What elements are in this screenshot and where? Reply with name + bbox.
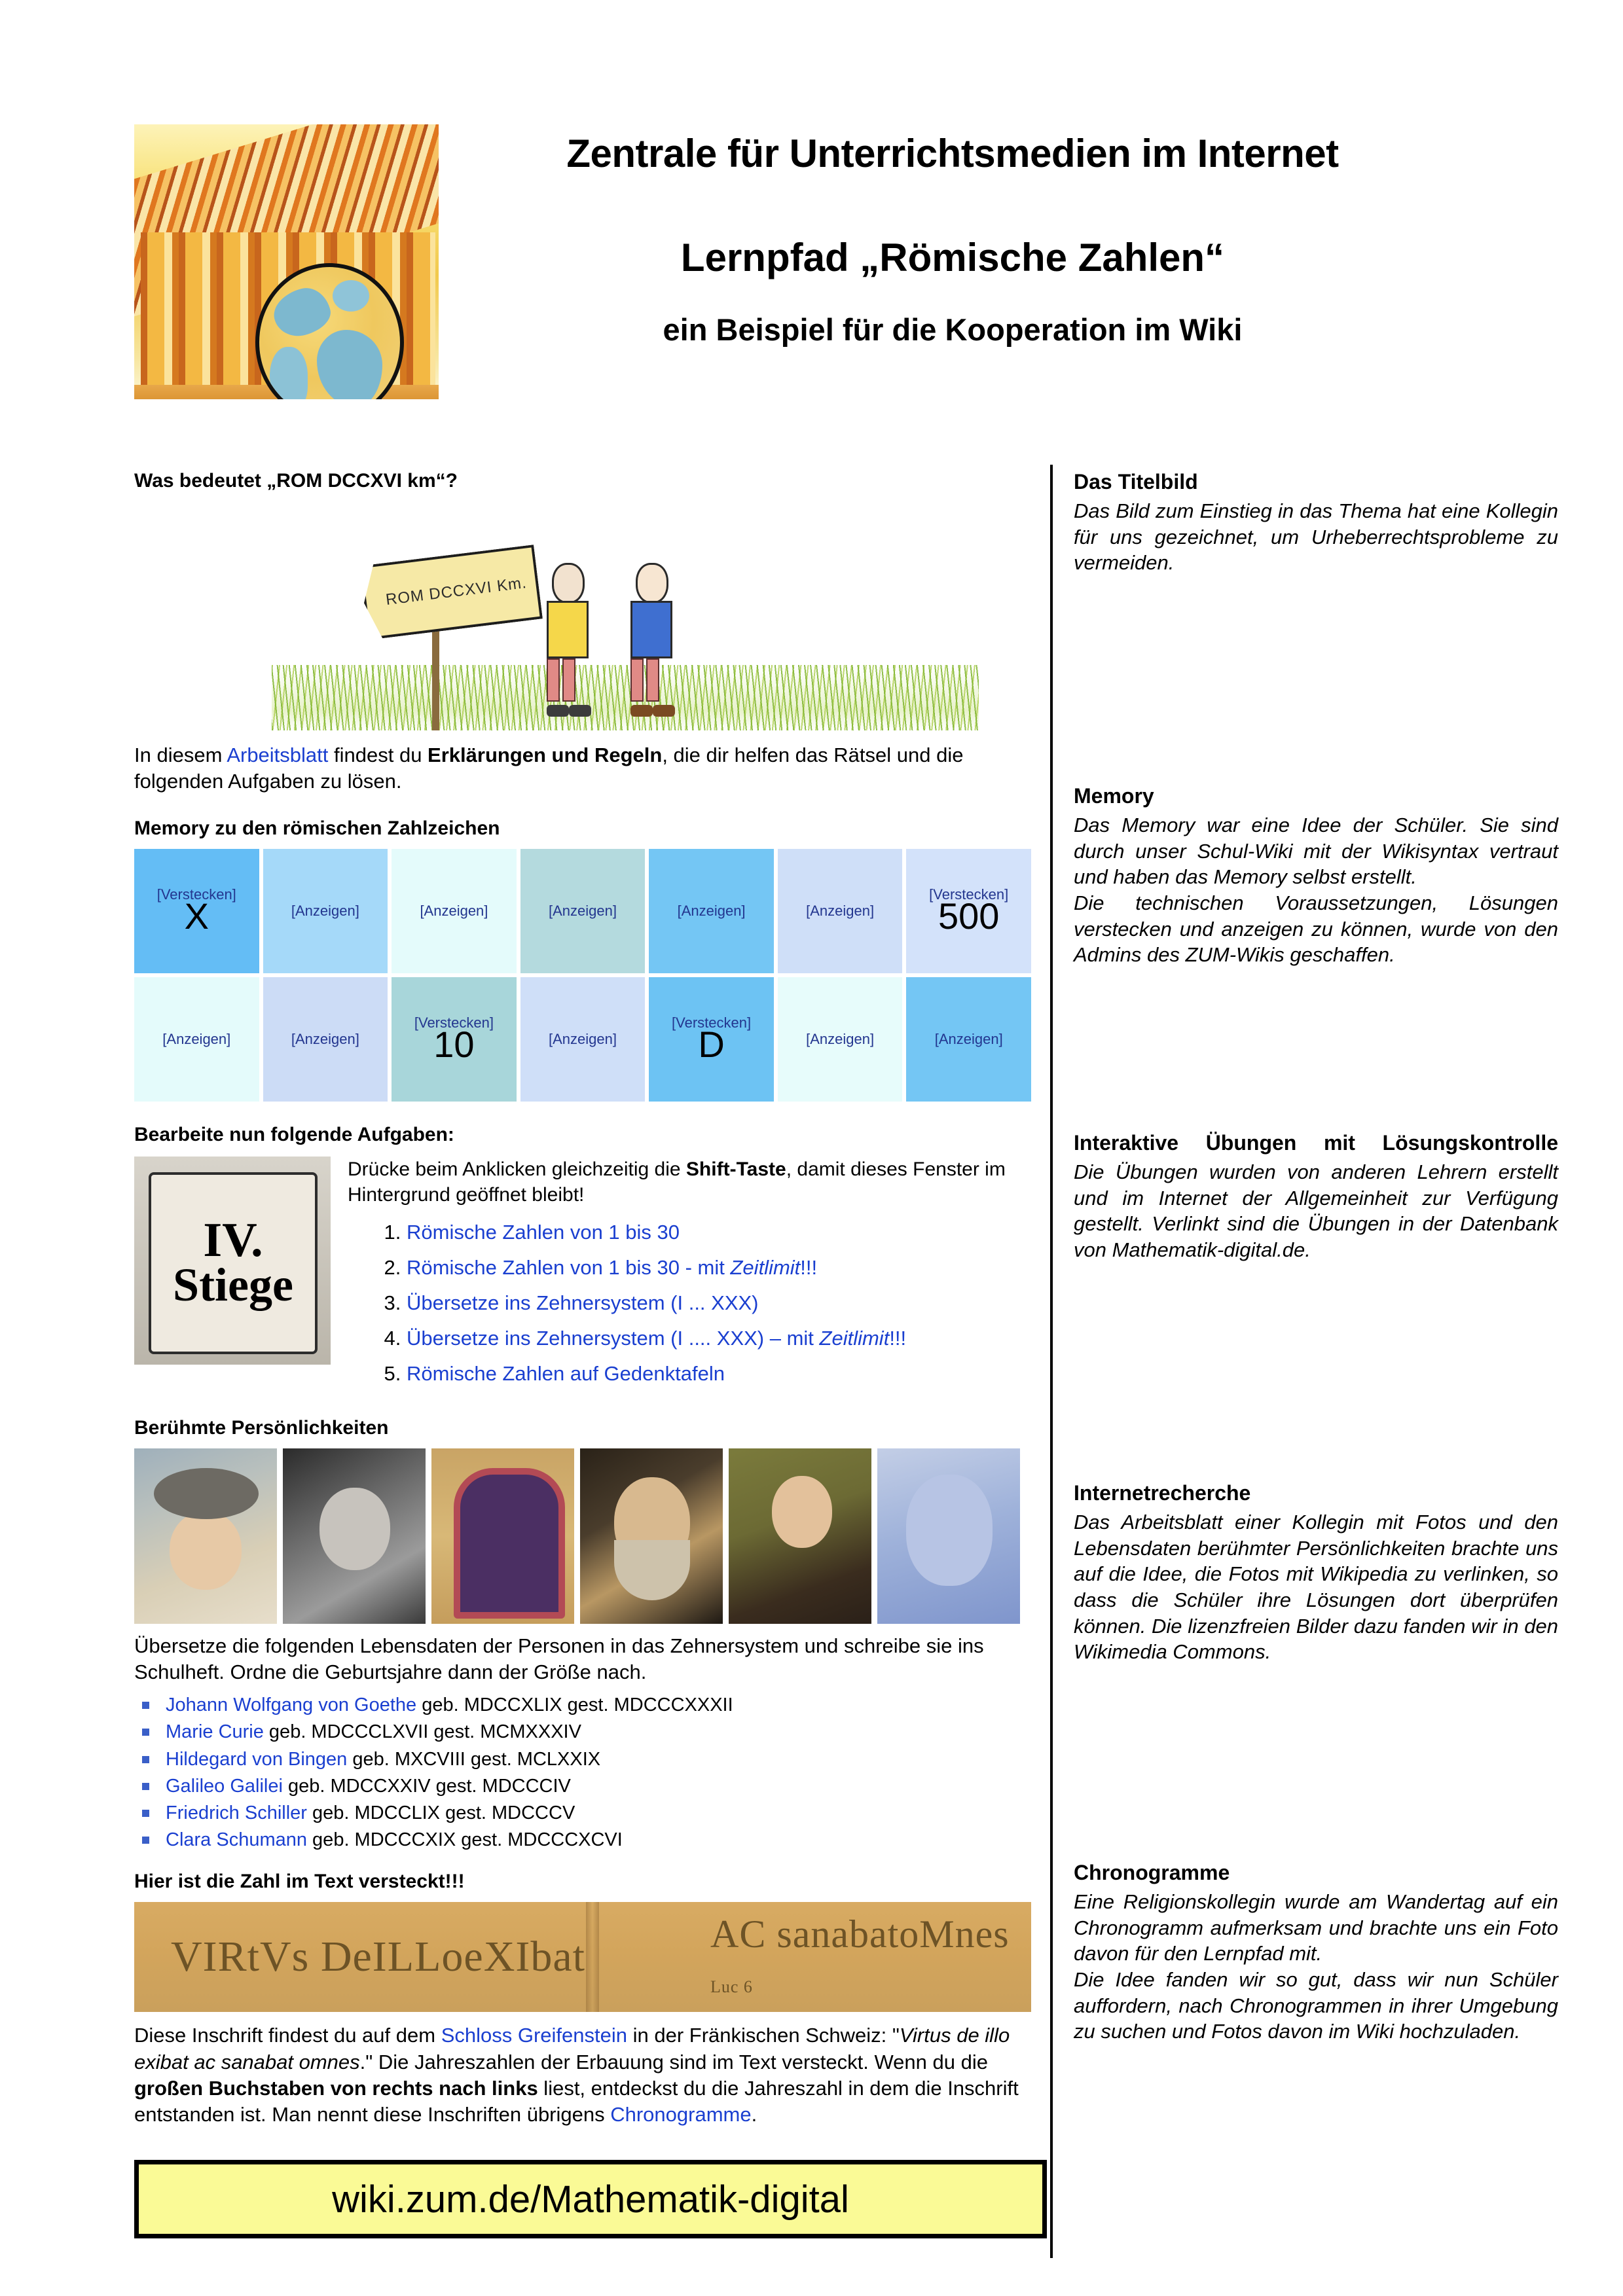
insc-text-1: Diese Inschrift findest du auf dem xyxy=(134,2024,441,2047)
task-emphasis: Zeitlimit xyxy=(731,1256,801,1279)
inscription-right-main: AC sanabatoMnes xyxy=(710,1912,1010,1956)
arbeitsblatt-link[interactable]: Arbeitsblatt xyxy=(227,744,328,766)
page-title: Lernpfad „Römische Zahlen“ xyxy=(452,235,1453,280)
sidebar-note-heading: Internetrecherche xyxy=(1074,1481,1558,1505)
insc-text-2: in der Fränkischen Schweiz: " xyxy=(627,2024,900,2047)
tasks-heading: Bearbeite nun folgende Aufgaben: xyxy=(134,1124,1038,1146)
task-link[interactable]: Übersetze ins Zehnersystem (I ... XXX) xyxy=(407,1291,1038,1315)
task-link[interactable]: Römische Zahlen auf Gedenktafeln xyxy=(407,1362,1038,1386)
stiege-photo: IV. Stiege xyxy=(134,1157,331,1365)
portrait-schiller[interactable] xyxy=(729,1448,871,1624)
memory-cell-value: X xyxy=(185,898,209,935)
greifenstein-link[interactable]: Schloss Greifenstein xyxy=(441,2024,627,2047)
zum-logo xyxy=(134,124,439,399)
memory-cell[interactable]: [Anzeigen] xyxy=(520,849,646,973)
tasks-intro-1: Drücke beim Anklicken gleichzeitig die xyxy=(348,1158,686,1180)
person-list-item: Johann Wolfgang von Goethe geb. MDCCXLIX… xyxy=(134,1692,1038,1719)
tasks-intro: Drücke beim Anklicken gleichzeitig die S… xyxy=(348,1157,1038,1208)
sidebar-note-text: Die Übungen wurden von anderen Lehrern e… xyxy=(1074,1159,1558,1263)
memory-cell[interactable]: [Verstecken]500 xyxy=(906,849,1031,973)
person-list-item: Clara Schumann geb. MDCCCXIX gest. MDCCC… xyxy=(134,1827,1038,1854)
person-wiki-link[interactable]: Johann Wolfgang von Goethe xyxy=(166,1695,416,1715)
sidebar-note-heading: Chronogramme xyxy=(1074,1861,1558,1885)
person-wiki-link[interactable]: Galileo Galilei xyxy=(166,1776,283,1797)
hidden-number-heading: Hier ist die Zahl im Text versteckt!!! xyxy=(134,1871,1038,1893)
sidebar-note: Das TitelbildDas Bild zum Einstieg in da… xyxy=(1074,470,1558,576)
inscription-left-text: VIRtVs DeILLoeXIbat xyxy=(171,1932,585,1982)
memory-cell-toggle-label[interactable]: [Anzeigen] xyxy=(935,1032,1003,1047)
sidebar-note-text: Das Arbeitsblatt einer Kollegin mit Foto… xyxy=(1074,1509,1558,1665)
sidebar-note-text: Das Memory war eine Idee der Schüler. Si… xyxy=(1074,812,1558,890)
sidebar-note-text: Die Idee fanden wir so gut, dass wir nun… xyxy=(1074,1967,1558,2045)
memory-cell-toggle-label[interactable]: [Anzeigen] xyxy=(678,904,746,918)
persons-list: Johann Wolfgang von Goethe geb. MDCCXLIX… xyxy=(134,1692,1038,1854)
memory-cell[interactable]: [Verstecken]X xyxy=(134,849,259,973)
org-title: Zentrale für Unterrichtsmedien im Intern… xyxy=(452,131,1453,176)
inscription-paragraph: Diese Inschrift findest du auf dem Schlo… xyxy=(134,2022,1038,2128)
memory-cell[interactable]: [Verstecken]10 xyxy=(392,977,517,1102)
task-link[interactable]: Übersetze ins Zehnersystem (I .... XXX) … xyxy=(407,1327,1038,1350)
memory-cell-toggle-label[interactable]: [Anzeigen] xyxy=(549,904,617,918)
intro-paragraph: In diesem Arbeitsblatt findest du Erklär… xyxy=(134,742,1038,795)
task-label: Übersetze ins Zehnersystem (I ... XXX) xyxy=(407,1291,759,1314)
person-list-item: Galileo Galilei geb. MDCCXXIV gest. MDCC… xyxy=(134,1773,1038,1800)
riddle-heading: Was bedeutet „ROM DCCXVI km“? xyxy=(134,470,1038,492)
person-wiki-link[interactable]: Clara Schumann xyxy=(166,1829,307,1850)
memory-grid: [Verstecken]X[Anzeigen][Anzeigen][Anzeig… xyxy=(134,849,1031,1102)
sidebar-note: Interaktive Übungen mit Lösungskontrolle… xyxy=(1074,1131,1558,1263)
memory-cell-toggle-label[interactable]: [Anzeigen] xyxy=(162,1032,230,1047)
sidebar-note: ChronogrammeEine Religionskollegin wurde… xyxy=(1074,1861,1558,2045)
sidebar-note-text: Die technischen Voraussetzungen, Lösunge… xyxy=(1074,890,1558,968)
stiege-line-1: IV. xyxy=(203,1218,263,1263)
page-header: Zentrale für Unterrichtsmedien im Intern… xyxy=(0,0,1623,419)
chronogram-photo: VIRtVs DeILLoeXIbat AC sanabatoMnes Luc … xyxy=(134,1902,1031,2012)
sidebar-note-heading: Das Titelbild xyxy=(1074,470,1558,494)
page-subtitle: ein Beispiel für die Kooperation im Wiki xyxy=(452,312,1453,348)
memory-cell[interactable]: [Anzeigen] xyxy=(778,849,903,973)
memory-cell-toggle-label[interactable]: [Anzeigen] xyxy=(806,904,874,918)
person-wiki-link[interactable]: Marie Curie xyxy=(166,1721,264,1742)
person-roman-dates: geb. MDCCCLXVII gest. MCMXXXIV xyxy=(264,1721,581,1742)
task-list: Römische Zahlen von 1 bis 30Römische Zah… xyxy=(348,1221,1038,1386)
memory-cell[interactable]: [Verstecken]D xyxy=(649,977,774,1102)
stiege-line-2: Stiege xyxy=(173,1263,293,1307)
shift-key-label: Shift-Taste xyxy=(686,1158,786,1180)
person-roman-dates: geb. MDCCCXIX gest. MDCCCXCVI xyxy=(307,1829,623,1850)
figure-right xyxy=(630,563,675,720)
memory-cell[interactable]: [Anzeigen] xyxy=(263,849,388,973)
memory-cell-toggle-label[interactable]: [Anzeigen] xyxy=(291,1032,359,1047)
sidebar-note-heading: Memory xyxy=(1074,784,1558,808)
memory-cell[interactable]: [Anzeigen] xyxy=(906,977,1031,1102)
memory-cell[interactable]: [Anzeigen] xyxy=(520,977,646,1102)
person-wiki-link[interactable]: Hildegard von Bingen xyxy=(166,1749,347,1770)
person-list-item: Friedrich Schiller geb. MDCCLIX gest. MD… xyxy=(134,1800,1038,1827)
memory-cell-toggle-label[interactable]: [Anzeigen] xyxy=(549,1032,617,1047)
tasks-section: IV. Stiege Drücke beim Anklicken gleichz… xyxy=(134,1157,1038,1397)
intro-strong: Erklärungen und Regeln xyxy=(428,744,662,766)
task-label: Römische Zahlen von 1 bis 30 - mit xyxy=(407,1256,731,1279)
stiege-sign-plate: IV. Stiege xyxy=(149,1172,318,1354)
persons-intro: Übersetze die folgenden Lebensdaten der … xyxy=(134,1633,1038,1686)
banner-url-text: wiki.zum.de/Mathematik-digital xyxy=(332,2178,849,2221)
portrait-row xyxy=(134,1448,1038,1624)
signpost-pole xyxy=(432,623,439,730)
sidebar-note: MemoryDas Memory war eine Idee der Schül… xyxy=(1074,784,1558,968)
stone-crack xyxy=(586,1902,599,2012)
portrait-hildegard[interactable] xyxy=(431,1448,574,1624)
task-tail: !!! xyxy=(889,1327,906,1350)
signpost-label: ROM DCCXVI Km. xyxy=(385,574,528,609)
memory-cell-value: D xyxy=(698,1026,724,1063)
url-banner[interactable]: wiki.zum.de/Mathematik-digital xyxy=(134,2160,1047,2238)
signpost-board: ROM DCCXVI Km. xyxy=(359,545,543,640)
memory-cell[interactable]: [Anzeigen] xyxy=(263,977,388,1102)
memory-cell-toggle-label[interactable]: [Anzeigen] xyxy=(291,904,359,918)
task-label: Römische Zahlen auf Gedenktafeln xyxy=(407,1362,725,1385)
person-wiki-link[interactable]: Friedrich Schiller xyxy=(166,1803,307,1823)
task-label: Römische Zahlen von 1 bis 30 xyxy=(407,1221,680,1244)
memory-heading: Memory zu den römischen Zahlzeichen xyxy=(134,817,1038,840)
memory-cell[interactable]: [Anzeigen] xyxy=(778,977,903,1102)
intro-text-1: In diesem xyxy=(134,744,227,766)
left-column: Was bedeutet „ROM DCCXVI km“? ROM DCCXVI… xyxy=(134,470,1038,2128)
signpost-illustration: ROM DCCXVI Km. xyxy=(272,541,979,730)
inscription-right-text: AC sanabatoMnes Luc 6 xyxy=(710,1912,1031,2002)
person-roman-dates: geb. MXCVIII gest. MCLXXIX xyxy=(347,1749,600,1770)
memory-cell-value: 500 xyxy=(938,898,999,935)
person-roman-dates: geb. MDCCLIX gest. MDCCCV xyxy=(307,1803,575,1823)
task-label: Übersetze ins Zehnersystem (I .... XXX) … xyxy=(407,1327,820,1350)
insc-text-3: ." Die Jahreszahlen der Erbauung sind im… xyxy=(360,2051,988,2073)
portrait-curie[interactable] xyxy=(283,1448,426,1624)
chronogramme-link[interactable]: Chronogramme xyxy=(610,2103,751,2126)
person-roman-dates: geb. MDCCXXIV gest. MDCCCIV xyxy=(283,1776,571,1797)
memory-cell-toggle-label[interactable]: [Anzeigen] xyxy=(420,904,488,918)
task-link[interactable]: Römische Zahlen von 1 bis 30 - mit Zeitl… xyxy=(407,1256,1038,1280)
portrait-goethe[interactable] xyxy=(134,1448,277,1624)
sidebar-note-text: Das Bild zum Einstieg in das Thema hat e… xyxy=(1074,498,1558,576)
tasks-text: Drücke beim Anklicken gleichzeitig die S… xyxy=(348,1157,1038,1397)
column-divider xyxy=(1050,465,1053,2258)
portrait-galilei[interactable] xyxy=(580,1448,723,1624)
person-list-item: Hildegard von Bingen geb. MXCVIII gest. … xyxy=(134,1746,1038,1773)
sidebar-note: InternetrechercheDas Arbeitsblatt einer … xyxy=(1074,1481,1558,1665)
memory-cell[interactable]: [Anzeigen] xyxy=(134,977,259,1102)
memory-cell[interactable]: [Anzeigen] xyxy=(392,849,517,973)
insc-text-5: . xyxy=(752,2103,757,2126)
inscription-bible-ref: Luc 6 xyxy=(710,1977,753,1996)
task-tail: !!! xyxy=(800,1256,817,1279)
persons-heading: Berühmte Persönlichkeiten xyxy=(134,1417,1038,1439)
intro-text-2: findest du xyxy=(328,744,428,766)
figure-left xyxy=(547,563,591,720)
sidebar-note-text: Eine Religionskollegin wurde am Wanderta… xyxy=(1074,1889,1558,1967)
header-titles: Zentrale für Unterrichtsmedien im Intern… xyxy=(452,131,1453,348)
person-list-item: Marie Curie geb. MDCCCLXVII gest. MCMXXX… xyxy=(134,1719,1038,1746)
memory-cell[interactable]: [Anzeigen] xyxy=(649,849,774,973)
memory-cell-toggle-label[interactable]: [Anzeigen] xyxy=(806,1032,874,1047)
task-emphasis: Zeitlimit xyxy=(820,1327,890,1350)
portrait-schumann[interactable] xyxy=(877,1448,1020,1624)
memory-cell-value: 10 xyxy=(433,1026,474,1063)
sidebar-note-heading: Interaktive Übungen mit Lösungskontrolle xyxy=(1074,1131,1558,1155)
grass-shape xyxy=(272,665,979,730)
task-link[interactable]: Römische Zahlen von 1 bis 30 xyxy=(407,1221,1038,1244)
person-roman-dates: geb. MDCCXLIX gest. MDCCCXXXII xyxy=(416,1695,733,1715)
insc-strong: großen Buchstaben von rechts nach links xyxy=(134,2077,538,2100)
